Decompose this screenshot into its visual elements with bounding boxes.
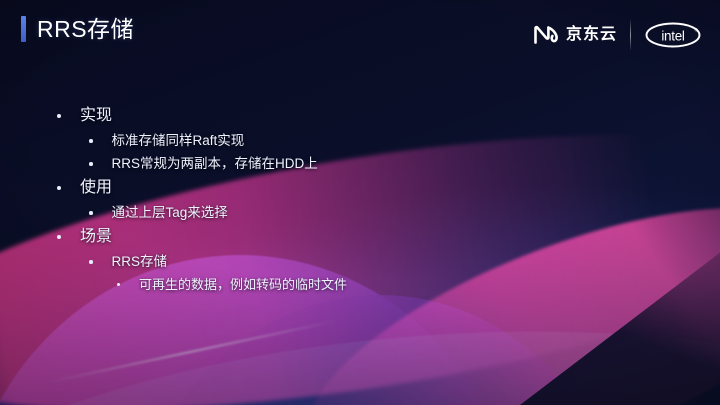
- list-item-label: 通过上层Tag来选择: [112, 202, 228, 223]
- list-item-label: 使用: [80, 176, 112, 199]
- bullet-dot-icon: [89, 260, 93, 264]
- list-item: 实现: [0, 104, 720, 130]
- bullet-dot-icon: [57, 114, 61, 118]
- bullet-dot-icon: [89, 211, 93, 215]
- list-item-label: 标准存储同样Raft实现: [112, 130, 245, 151]
- list-item: RRS存储: [0, 251, 720, 274]
- list-item-label: RRS存储: [112, 251, 168, 272]
- intel-oval-logo-icon: intel ®: [644, 20, 702, 50]
- slide-title-group: RRS存储: [21, 16, 134, 42]
- logo-group: 京东云 intel ®: [533, 18, 702, 52]
- list-item: 可再生的数据，例如转码的临时文件: [0, 274, 720, 297]
- jd-cloud-logo-text: 京东云: [566, 27, 617, 43]
- list-item-label: RRS常规为两副本，存储在HDD上: [112, 153, 318, 174]
- svg-text:intel: intel: [661, 28, 685, 43]
- list-item: 场景: [0, 225, 720, 251]
- bullet-list: 实现 标准存储同样Raft实现 RRS常规为两副本，存储在HDD上 使用 通过上…: [0, 104, 720, 297]
- list-item-label: 可再生的数据，例如转码的临时文件: [139, 274, 347, 295]
- list-item-label: 场景: [80, 225, 112, 248]
- jd-cloud-logo: 京东云: [533, 25, 617, 45]
- bullet-dot-icon: [89, 162, 93, 166]
- list-item: 标准存储同样Raft实现: [0, 130, 720, 153]
- list-item: 通过上层Tag来选择: [0, 202, 720, 225]
- bullet-dot-icon: [117, 283, 120, 286]
- bullet-dot-icon: [57, 235, 61, 239]
- title-accent-bar: [21, 16, 26, 42]
- list-item: RRS常规为两副本，存储在HDD上: [0, 153, 720, 176]
- list-item: 使用: [0, 176, 720, 202]
- list-item-label: 实现: [80, 104, 112, 127]
- bullet-dot-icon: [57, 186, 61, 190]
- jd-cloud-mark-icon: [533, 25, 559, 45]
- logo-divider: [630, 20, 631, 50]
- bullet-dot-icon: [89, 139, 93, 143]
- presentation-slide: RRS存储 京东云 intel ® 实现 标准存储同样Raft实现: [0, 0, 720, 405]
- page-title: RRS存储: [37, 18, 134, 41]
- intel-logo: intel ®: [644, 20, 702, 50]
